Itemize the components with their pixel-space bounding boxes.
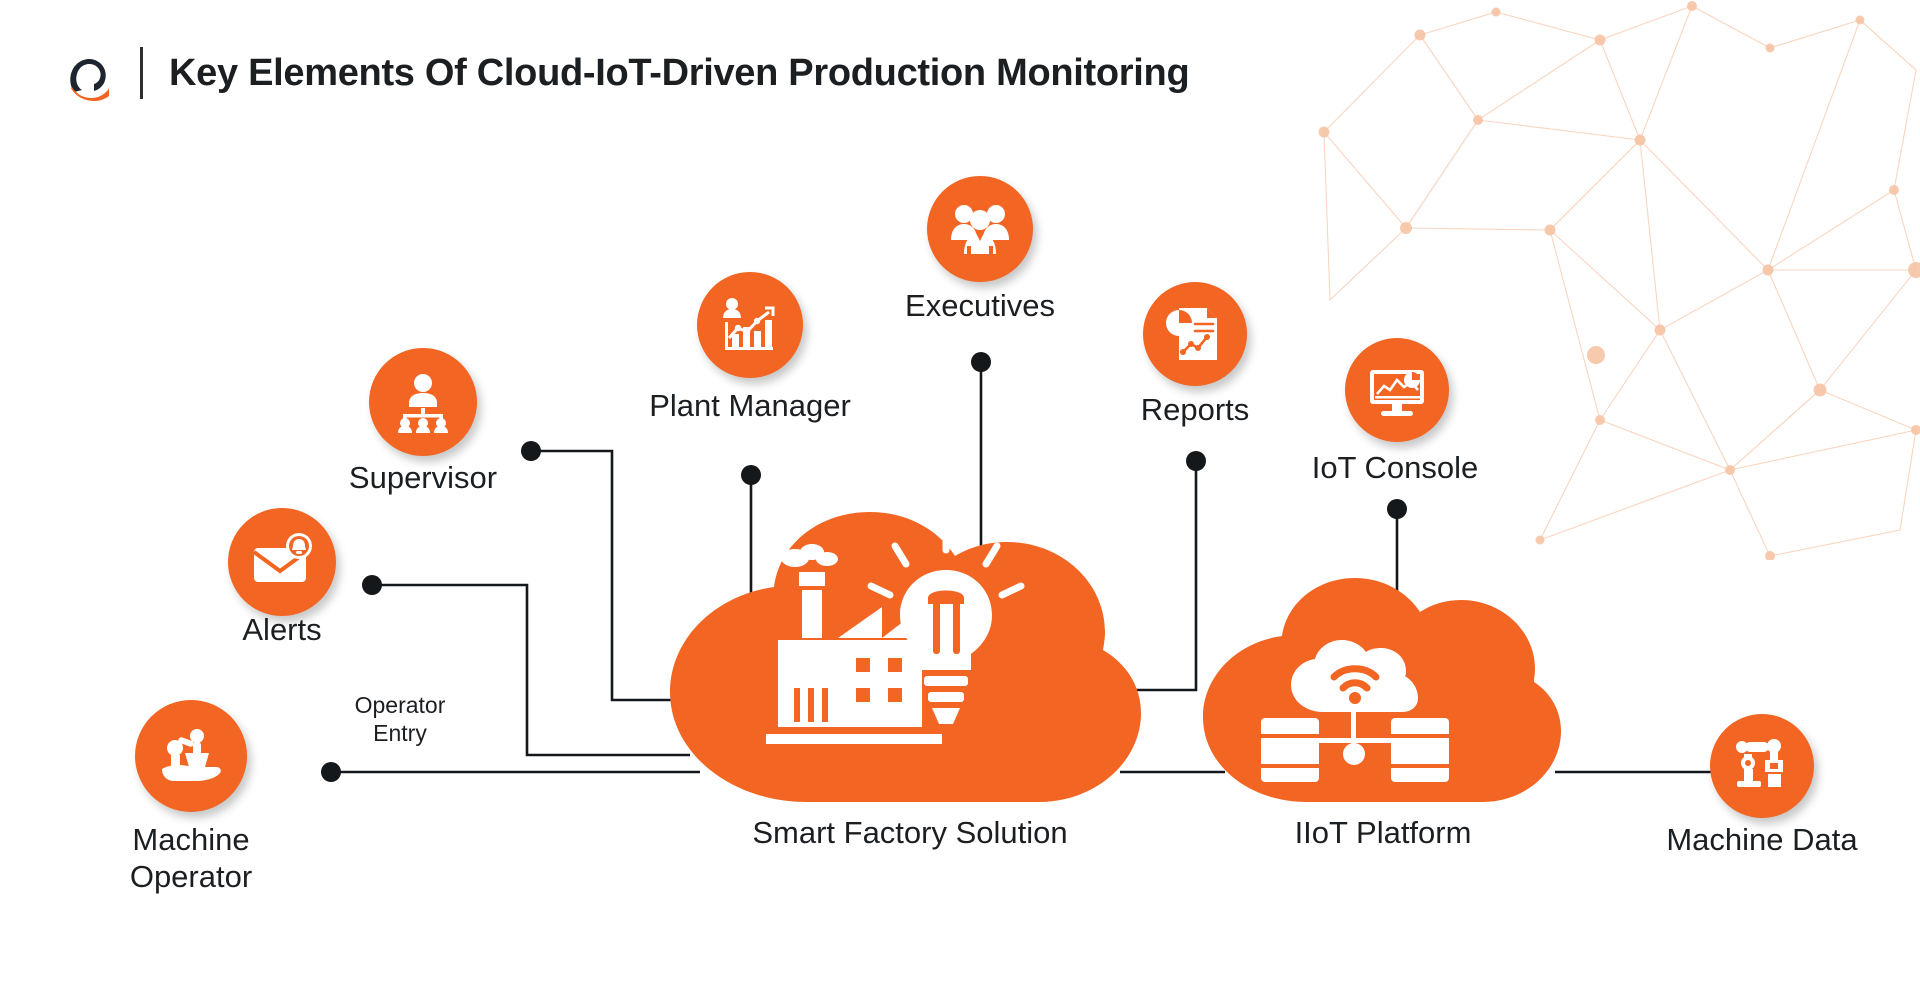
dot-supervisor	[521, 441, 541, 461]
supervisor-label: Supervisor	[303, 460, 543, 497]
machine-data-badge[interactable]	[1710, 714, 1814, 818]
plant-manager-label: Plant Manager	[610, 388, 890, 425]
org-chart-hierarchy-icon	[392, 371, 454, 433]
smart-factory-cloud-shape	[670, 512, 1145, 802]
bar-chart-person-icon	[719, 294, 781, 356]
dot-plant-manager	[741, 465, 761, 485]
alerts-badge[interactable]	[228, 508, 336, 616]
machine-operator-label: Machine Operator	[71, 822, 311, 895]
dot-alerts	[362, 575, 382, 595]
iiot-platform-label: IIoT Platform	[1113, 815, 1653, 851]
machine-operator-badge[interactable]	[135, 700, 247, 812]
dot-executives	[971, 352, 991, 372]
dot-iot-console	[1387, 499, 1407, 519]
operator-hand-robot-icon	[158, 723, 224, 789]
alerts-label: Alerts	[162, 612, 402, 649]
dot-machine-operator	[321, 762, 341, 782]
iot-console-label: IoT Console	[1275, 450, 1515, 487]
diagram-canvas: Smart Factory Solution	[0, 0, 1920, 1008]
executives-badge[interactable]	[927, 176, 1033, 282]
reports-badge[interactable]	[1143, 282, 1247, 386]
robot-arm-icon	[1732, 736, 1792, 796]
executives-label: Executives	[860, 288, 1100, 325]
envelope-alert-icon	[251, 531, 313, 593]
iot-console-badge[interactable]	[1345, 338, 1449, 442]
reports-label: Reports	[1075, 392, 1315, 429]
people-group-icon	[949, 198, 1011, 260]
edge-label-operator-entry: Operator Entry	[300, 692, 500, 747]
iiot-platform-cloud-shape	[1203, 578, 1563, 802]
monitor-dashboard-icon	[1367, 360, 1427, 420]
dot-reports	[1186, 451, 1206, 471]
supervisor-badge[interactable]	[369, 348, 477, 456]
machine-data-label: Machine Data	[1642, 822, 1882, 859]
plant-manager-badge[interactable]	[697, 272, 803, 378]
report-document-icon	[1165, 304, 1225, 364]
